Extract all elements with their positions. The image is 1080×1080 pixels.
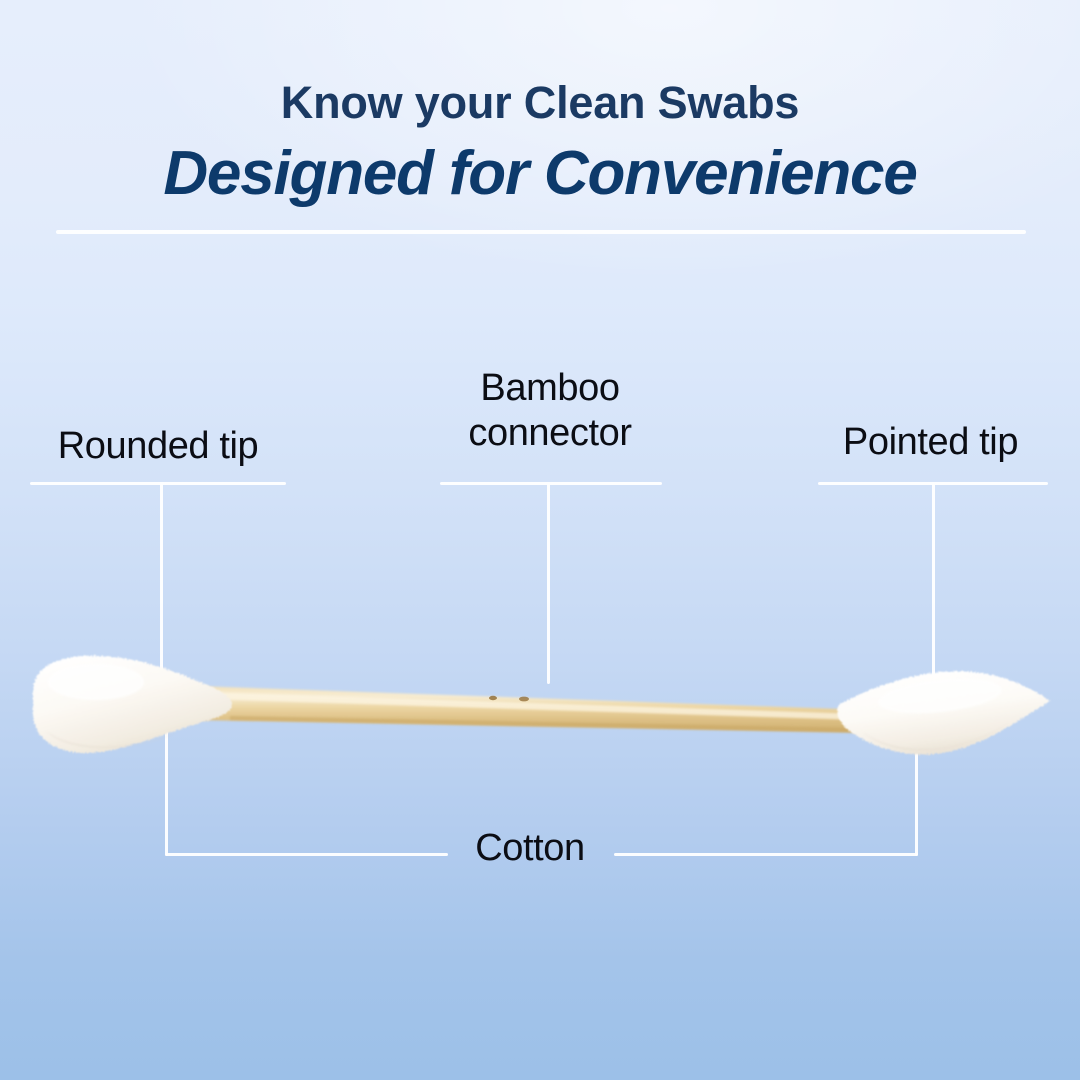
bamboo-knot-left [489,696,497,700]
title-block: Know your Clean Swabs Designed for Conve… [0,80,1080,205]
bamboo-stick-group [196,686,870,733]
page-kicker: Know your Clean Swabs [0,80,1080,125]
product-image-cotton-swab [0,600,1080,820]
callout-label-cotton: Cotton [430,826,630,871]
bamboo-knot-right [519,697,529,702]
cotton-bracket-bar-left [165,853,448,856]
callout-underline-bamboo-connector [440,482,662,485]
cotton-bracket-bar-right [614,853,918,856]
title-divider [56,230,1026,234]
background-glow [0,0,1080,420]
callout-label-bamboo-connector: Bamboo connector [428,366,672,456]
cotton-tip-rounded-highlight [48,664,144,700]
page-title: Designed for Convenience [0,143,1080,205]
callout-underline-rounded-tip [30,482,286,485]
infographic-page: Know your Clean Swabs Designed for Conve… [0,0,1080,1080]
bamboo-stick [196,686,870,733]
callout-label-rounded-tip: Rounded tip [18,424,298,469]
callout-label-pointed-tip: Pointed tip [808,420,1053,465]
